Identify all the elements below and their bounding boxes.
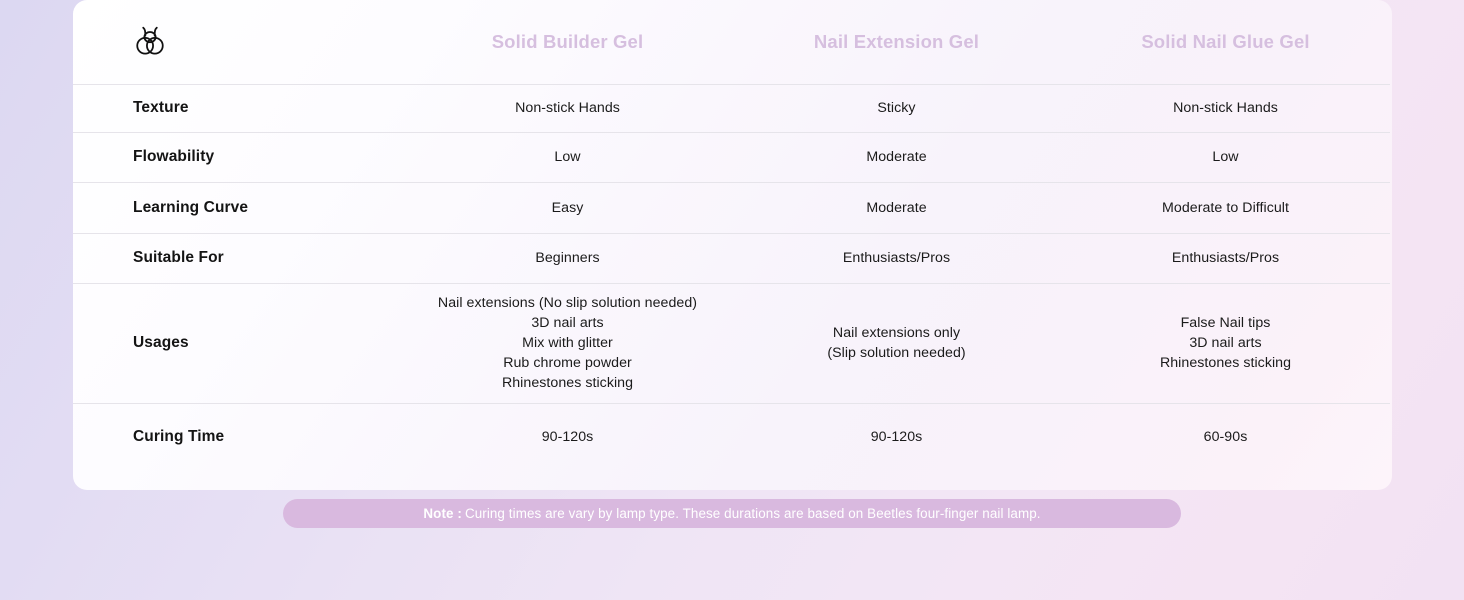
cell-value: 60-90s — [1061, 427, 1390, 447]
cell-value: Beginners — [403, 248, 732, 268]
table-cell: 90-120s — [403, 403, 732, 470]
table-cell: Moderate — [732, 132, 1061, 182]
cell-value: Sticky — [732, 98, 1061, 118]
cell-value: Nail extensions only (Slip solution need… — [732, 323, 1061, 363]
table-row: Usages Nail extensions (No slip solution… — [73, 283, 1392, 403]
row-spacer — [1390, 233, 1392, 283]
row-spacer — [1390, 403, 1392, 470]
table-cell: Non-stick Hands — [403, 84, 732, 132]
table-cell: False Nail tips 3D nail arts Rhinestones… — [1061, 283, 1390, 403]
cell-value: Non-stick Hands — [1061, 98, 1390, 118]
table-cell: Moderate — [732, 182, 1061, 233]
column-header-cell: Nail Extension Gel — [732, 0, 1061, 84]
column-header-label: Solid Builder Gel — [403, 31, 732, 53]
table-row: Texture Non-stick Hands Sticky Non-stick… — [73, 84, 1392, 132]
table-cell: Non-stick Hands — [1061, 84, 1390, 132]
brand-logo-cell — [73, 0, 403, 84]
row-spacer — [1390, 132, 1392, 182]
row-label: Learning Curve — [73, 199, 403, 217]
row-spacer — [1390, 283, 1392, 403]
table-cell: Nail extensions (No slip solution needed… — [403, 283, 732, 403]
row-label-cell: Texture — [73, 84, 403, 132]
table-body: Texture Non-stick Hands Sticky Non-stick… — [73, 84, 1392, 470]
note-banner: Note : Curing times are vary by lamp typ… — [283, 499, 1181, 528]
column-header-label: Nail Extension Gel — [732, 31, 1061, 53]
row-label-cell: Suitable For — [73, 233, 403, 283]
row-label-cell: Curing Time — [73, 403, 403, 470]
table-cell: Low — [1061, 132, 1390, 182]
row-spacer — [1390, 182, 1392, 233]
table-cell: Moderate to Difficult — [1061, 182, 1390, 233]
gel-comparison-table: Solid Builder Gel Nail Extension Gel Sol… — [73, 0, 1392, 470]
column-header-label: Solid Nail Glue Gel — [1061, 31, 1390, 53]
table-cell: Nail extensions only (Slip solution need… — [732, 283, 1061, 403]
row-label-cell: Usages — [73, 283, 403, 403]
row-label: Suitable For — [73, 249, 403, 267]
beetles-bug-logo-icon — [133, 25, 403, 59]
row-label: Texture — [73, 99, 403, 117]
cell-value: Nail extensions (No slip solution needed… — [403, 293, 732, 393]
table-cell: Low — [403, 132, 732, 182]
cell-value: Enthusiasts/Pros — [1061, 248, 1390, 268]
row-label-cell: Learning Curve — [73, 182, 403, 233]
cell-value: False Nail tips 3D nail arts Rhinestones… — [1061, 313, 1390, 373]
cell-value: Low — [1061, 147, 1390, 167]
table-cell: Enthusiasts/Pros — [1061, 233, 1390, 283]
cell-value: Moderate to Difficult — [1061, 198, 1390, 218]
cell-value: Low — [403, 147, 732, 167]
row-spacer — [1390, 84, 1392, 132]
table-cell: 90-120s — [732, 403, 1061, 470]
row-label: Flowability — [73, 148, 403, 166]
table-cell: Enthusiasts/Pros — [732, 233, 1061, 283]
column-header-cell: Solid Nail Glue Gel — [1061, 0, 1390, 84]
table-row: Learning Curve Easy Moderate Moderate to… — [73, 182, 1392, 233]
header-spacer — [1390, 0, 1392, 84]
note-label: Note : — [423, 506, 462, 521]
header-row: Solid Builder Gel Nail Extension Gel Sol… — [73, 0, 1392, 84]
cell-value: Easy — [403, 198, 732, 218]
row-label-cell: Flowability — [73, 132, 403, 182]
cell-value: Non-stick Hands — [403, 98, 732, 118]
table-row: Curing Time 90-120s 90-120s 60-90s — [73, 403, 1392, 470]
table-row: Flowability Low Moderate Low — [73, 132, 1392, 182]
table-row: Suitable For Beginners Enthusiasts/Pros … — [73, 233, 1392, 283]
table-cell: Beginners — [403, 233, 732, 283]
table-cell: 60-90s — [1061, 403, 1390, 470]
cell-value: 90-120s — [403, 427, 732, 447]
column-header-cell: Solid Builder Gel — [403, 0, 732, 84]
cell-value: Enthusiasts/Pros — [732, 248, 1061, 268]
table-cell: Sticky — [732, 84, 1061, 132]
table-cell: Easy — [403, 182, 732, 233]
table-header: Solid Builder Gel Nail Extension Gel Sol… — [73, 0, 1392, 84]
comparison-card: Solid Builder Gel Nail Extension Gel Sol… — [73, 0, 1392, 490]
cell-value: 90-120s — [732, 427, 1061, 447]
note-text: Curing times are vary by lamp type. Thes… — [465, 506, 1041, 521]
row-label: Usages — [73, 334, 403, 352]
cell-value: Moderate — [732, 147, 1061, 167]
cell-value: Moderate — [732, 198, 1061, 218]
row-label: Curing Time — [73, 428, 403, 446]
